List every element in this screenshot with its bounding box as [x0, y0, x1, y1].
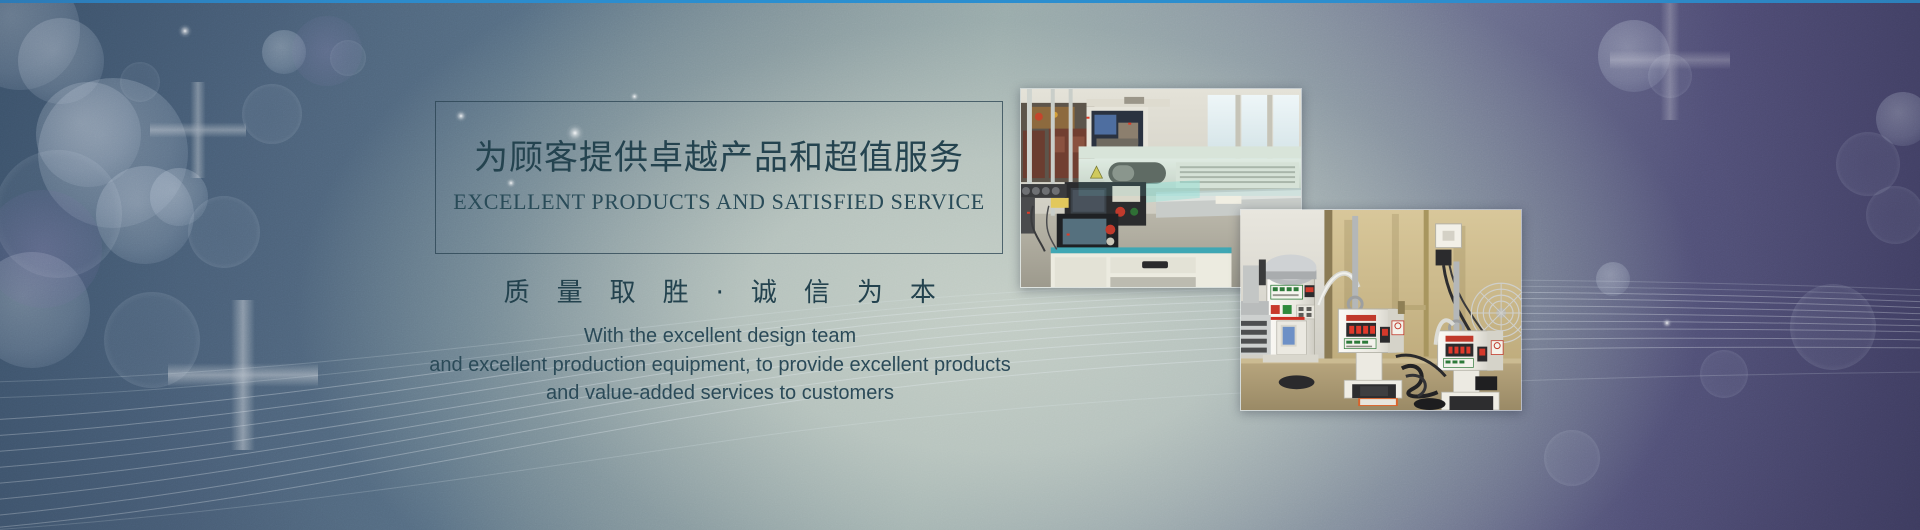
pneumatic-press-illustration [1241, 210, 1521, 410]
headline-chinese: 为顾客提供卓越产品和超值服务 [435, 130, 1003, 179]
description-line: and excellent production equipment, to p… [340, 351, 1100, 380]
description-line: and value-added services to customers [340, 379, 1100, 408]
photo-pneumatic-press-machines [1240, 209, 1522, 411]
promo-banner: 为顾客提供卓越产品和超值服务 EXCELLENT PRODUCTS AND SA… [0, 0, 1920, 530]
slogan-chinese: 质 量 取 胜 · 诚 信 为 本 [405, 272, 1035, 309]
background-vignette [0, 0, 1920, 530]
description-line: With the excellent design team [340, 322, 1100, 351]
description-block: With the excellent design team and excel… [340, 322, 1100, 408]
headline-english: EXCELLENT PRODUCTS AND SATISFIED SERVICE [435, 189, 1003, 215]
